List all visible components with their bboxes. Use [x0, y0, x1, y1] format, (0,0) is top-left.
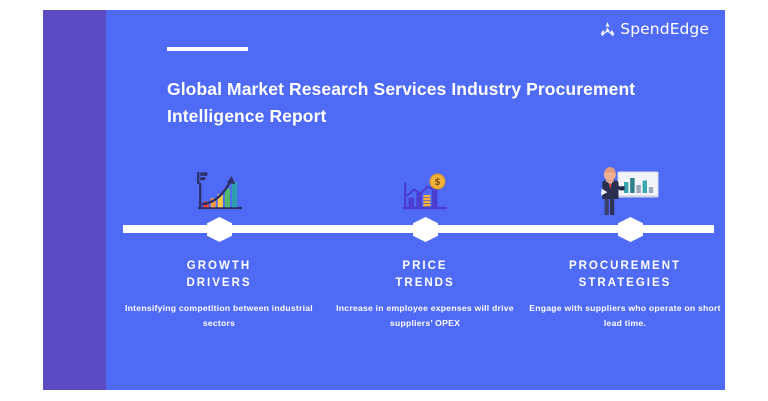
svg-text:$: $ [434, 177, 441, 188]
brand-logo-text: SpendEdge [620, 22, 709, 38]
step-description-growth-drivers: Intensifying competition between industr… [114, 301, 324, 331]
step-heading-procurement-strategies: PROCUREMENT STRATEGIES [520, 258, 725, 291]
left-accent-band [43, 10, 106, 390]
main-panel: SpendEdge Global Market Research Service… [106, 10, 725, 390]
growth-bar-chart-arrow-icon [114, 158, 324, 220]
infographic-slide: SpendEdge Global Market Research Service… [0, 0, 768, 401]
title-rule [167, 47, 248, 51]
spendedge-triple-chevron-icon [599, 21, 616, 38]
page-title: Global Market Research Services Industry… [167, 76, 667, 130]
step-heading-line1: GROWTH [114, 258, 324, 275]
timeline-step-price-trends[interactable]: $ PRICE TRENDS Increase in employee expe… [320, 158, 530, 331]
brand-logo[interactable]: SpendEdge [599, 21, 709, 38]
step-description-price-trends: Increase in employee expenses will drive… [320, 301, 530, 331]
step-heading-line2: STRATEGIES [520, 275, 725, 292]
step-description-procurement-strategies: Engage with suppliers who operate on sho… [520, 301, 725, 331]
step-heading-line2: DRIVERS [114, 275, 324, 292]
step-heading-line1: PRICE [320, 258, 530, 275]
timeline-step-procurement-strategies[interactable]: PROCUREMENT STRATEGIES Engage with suppl… [520, 158, 725, 331]
step-heading-growth-drivers: GROWTH DRIVERS [114, 258, 324, 291]
step-heading-price-trends: PRICE TRENDS [320, 258, 530, 291]
step-heading-line1: PROCUREMENT [520, 258, 725, 275]
step-heading-line2: TRENDS [320, 275, 530, 292]
price-chart-coins-icon: $ [320, 158, 530, 220]
presenter-whiteboard-icon [520, 158, 725, 220]
timeline-step-growth-drivers[interactable]: GROWTH DRIVERS Intensifying competition … [114, 158, 324, 331]
